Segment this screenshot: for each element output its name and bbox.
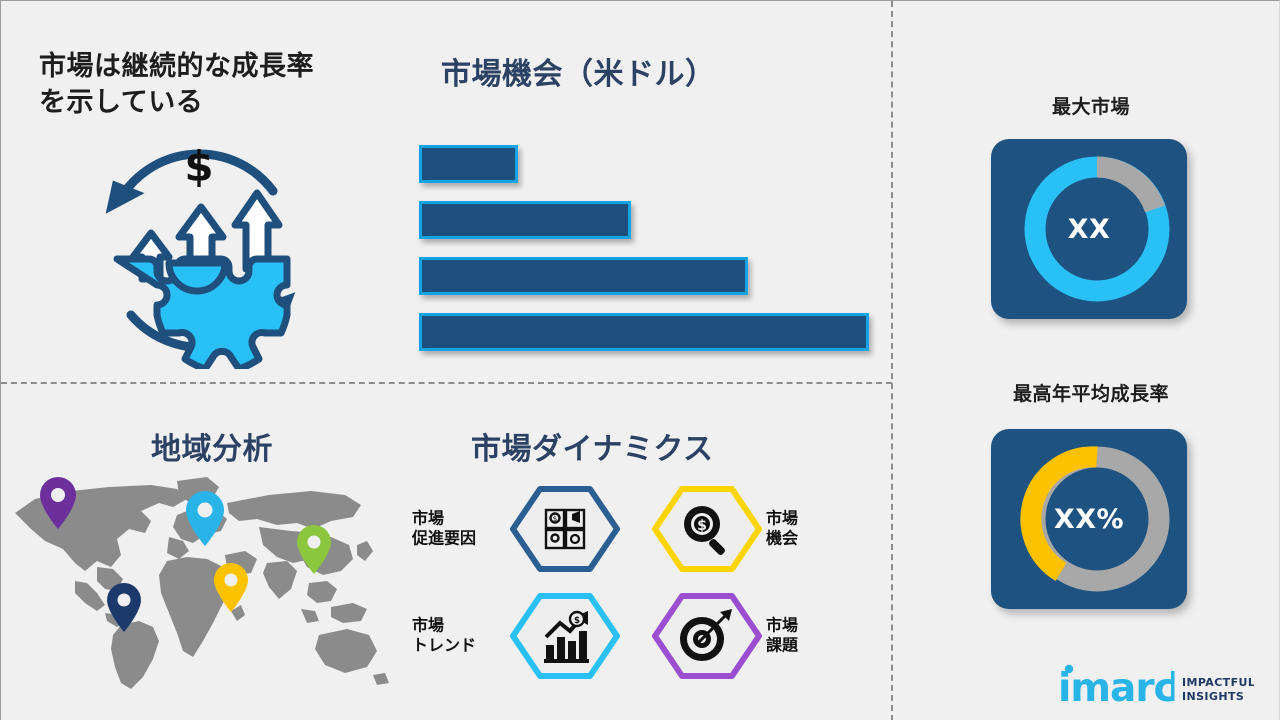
dynamics-item-drivers[interactable]: 市場 促進要因 $: [406, 486, 626, 572]
logo-tagline-line1: IMPACTFUL: [1182, 676, 1254, 689]
dynamics-label-opportunity: 市場 機会: [766, 509, 862, 550]
market-opportunity-bar-chart: [419, 145, 879, 355]
highest-cagr-heading: 最高年平均成長率: [941, 379, 1241, 406]
dynamics-item-trends[interactable]: 市場 トレンド $: [406, 593, 626, 679]
dynamics-label-trends: 市場 トレンド: [412, 616, 508, 657]
dynamics-item-challenges[interactable]: 市場 課題: [646, 593, 866, 679]
market-opportunity-heading: 市場機会（米ドル）: [441, 49, 861, 93]
logo-wordmark: imarc: [1058, 666, 1176, 711]
svg-text:$: $: [697, 518, 707, 534]
bar-4: [419, 313, 869, 351]
imarc-logo: imarc IMPACTFUL INSIGHTS: [1054, 659, 1254, 711]
market-dynamics-heading: 市場ダイナミクス: [471, 424, 811, 468]
svg-text:$: $: [553, 515, 557, 523]
bar-2: [419, 201, 631, 239]
dynamics-label-drivers: 市場 促進要因: [412, 509, 508, 550]
horizontal-divider: [1, 382, 892, 384]
largest-market-donut: [1015, 147, 1179, 311]
vertical-divider: [891, 1, 893, 720]
circular-growth-gear-icon: $: [73, 129, 323, 369]
logo-divider: [1171, 671, 1175, 701]
bar-3: [419, 257, 748, 295]
dynamics-label-challenges: 市場 課題: [766, 616, 862, 657]
infographic-slide: 市場は継続的な成長率 を示している $ 市場機会（米ドル） 地域分析: [0, 0, 1280, 720]
hexagon-drivers[interactable]: $: [510, 486, 620, 572]
highest-cagr-donut: [1015, 437, 1179, 601]
svg-text:$: $: [574, 616, 580, 626]
bar-1: [419, 145, 518, 183]
regional-analysis-heading: 地域分析: [151, 424, 411, 468]
largest-market-heading: 最大市場: [941, 92, 1241, 119]
hexagon-challenges[interactable]: [652, 593, 762, 679]
growth-heading: 市場は継続的な成長率 を示している: [39, 49, 389, 120]
largest-market-card: XX: [991, 139, 1187, 319]
hexagon-trends[interactable]: $: [510, 593, 620, 679]
hexagon-opportunity[interactable]: $: [652, 486, 762, 572]
highest-cagr-card: XX%: [991, 429, 1187, 609]
dollar-symbol: $: [184, 142, 213, 191]
world-map: [1, 463, 401, 695]
logo-tagline-line2: INSIGHTS: [1182, 690, 1244, 703]
dynamics-item-opportunity[interactable]: $ 市場 機会: [646, 486, 866, 572]
